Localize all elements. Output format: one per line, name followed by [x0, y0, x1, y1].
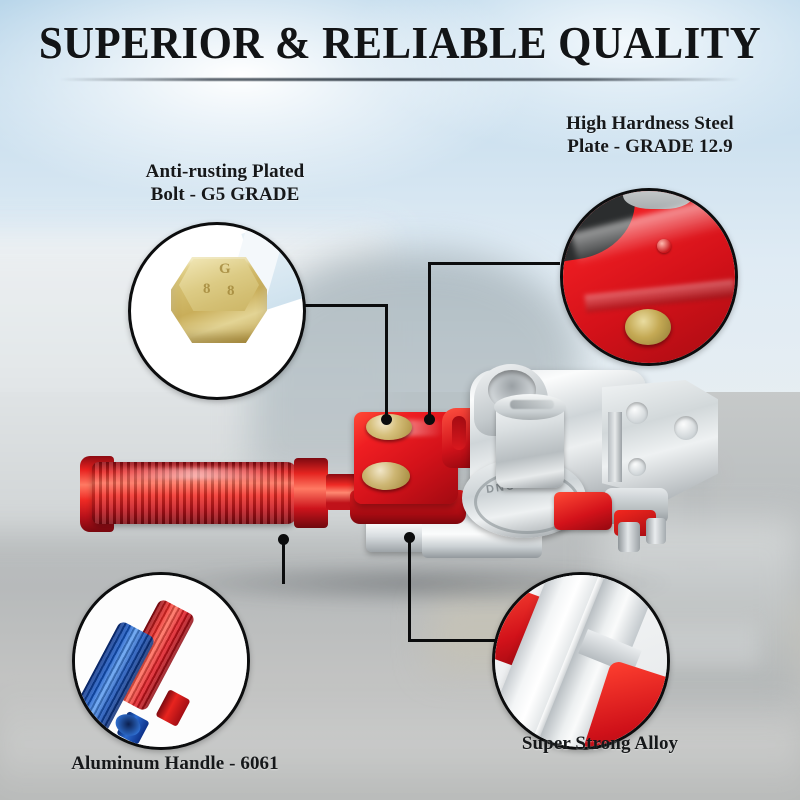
- leader-line-alloy: [408, 540, 411, 642]
- callout-label-plate: High Hardness Steel Plate - GRADE 12.9: [500, 112, 800, 158]
- flange-hole: [674, 416, 698, 440]
- callout-label-handle: Aluminum Handle - 6061: [0, 752, 350, 775]
- plated-bolt-lower: [362, 462, 410, 490]
- zoom-bolt-grade-mark-1: G: [219, 261, 231, 278]
- callout-zoom-plate: [560, 188, 738, 366]
- callout-zoom-bolt: G 8 8: [128, 222, 306, 400]
- leader-line-alloy-elbow: [408, 639, 500, 642]
- zoom-plate-rivet: [657, 239, 671, 253]
- zoom-bolt-grade-mark-2: 8: [203, 281, 211, 298]
- callout-zoom-handle: [72, 572, 250, 750]
- callout-label-alloy: Super Strong Alloy: [420, 732, 780, 755]
- leader-dot-alloy: [404, 532, 415, 543]
- leader-dot-bolt: [381, 414, 392, 425]
- page-title: SUPERIOR & RELIABLE QUALITY: [28, 16, 772, 69]
- handle-collar: [294, 458, 328, 528]
- leader-dot-plate: [424, 414, 435, 425]
- flange-rib: [608, 412, 622, 482]
- callout-label-bolt-line2: Bolt - G5 GRADE: [60, 183, 390, 206]
- callout-zoom-alloy: [492, 572, 670, 750]
- clamp-pin-secondary: [646, 518, 666, 544]
- callout-label-bolt-line1: Anti-rusting Plated: [60, 160, 390, 183]
- callout-label-plate-line1: High Hardness Steel: [500, 112, 800, 135]
- callout-label-alloy-line1: Super Strong Alloy: [420, 732, 780, 755]
- flange-hole: [626, 402, 648, 424]
- callout-label-plate-line2: Plate - GRADE 12.9: [500, 135, 800, 158]
- leader-dot-handle: [278, 534, 289, 545]
- handle-highlight: [106, 468, 286, 480]
- leader-line-bolt: [300, 304, 388, 307]
- leader-line-handle: [282, 540, 285, 584]
- zoom-plate-gold-bolt: [625, 309, 671, 345]
- red-clamp: [554, 492, 612, 530]
- lock-emboss: [510, 400, 554, 409]
- bracket-hook: [452, 416, 466, 450]
- callout-label-bolt: Anti-rusting Plated Bolt - G5 GRADE: [60, 160, 390, 206]
- callout-label-handle-line1: Aluminum Handle - 6061: [0, 752, 350, 775]
- flange-hole: [628, 458, 646, 476]
- product-infographic: SUPERIOR & RELIABLE QUALITY DNC: [0, 0, 800, 800]
- title-divider: [60, 78, 740, 81]
- zoom-bolt-grade-mark-3: 8: [227, 283, 235, 300]
- leader-line-bolt-drop: [385, 304, 388, 420]
- leader-line-plate: [428, 262, 560, 265]
- clamp-pin: [618, 522, 640, 552]
- leader-line-plate-drop: [428, 262, 431, 420]
